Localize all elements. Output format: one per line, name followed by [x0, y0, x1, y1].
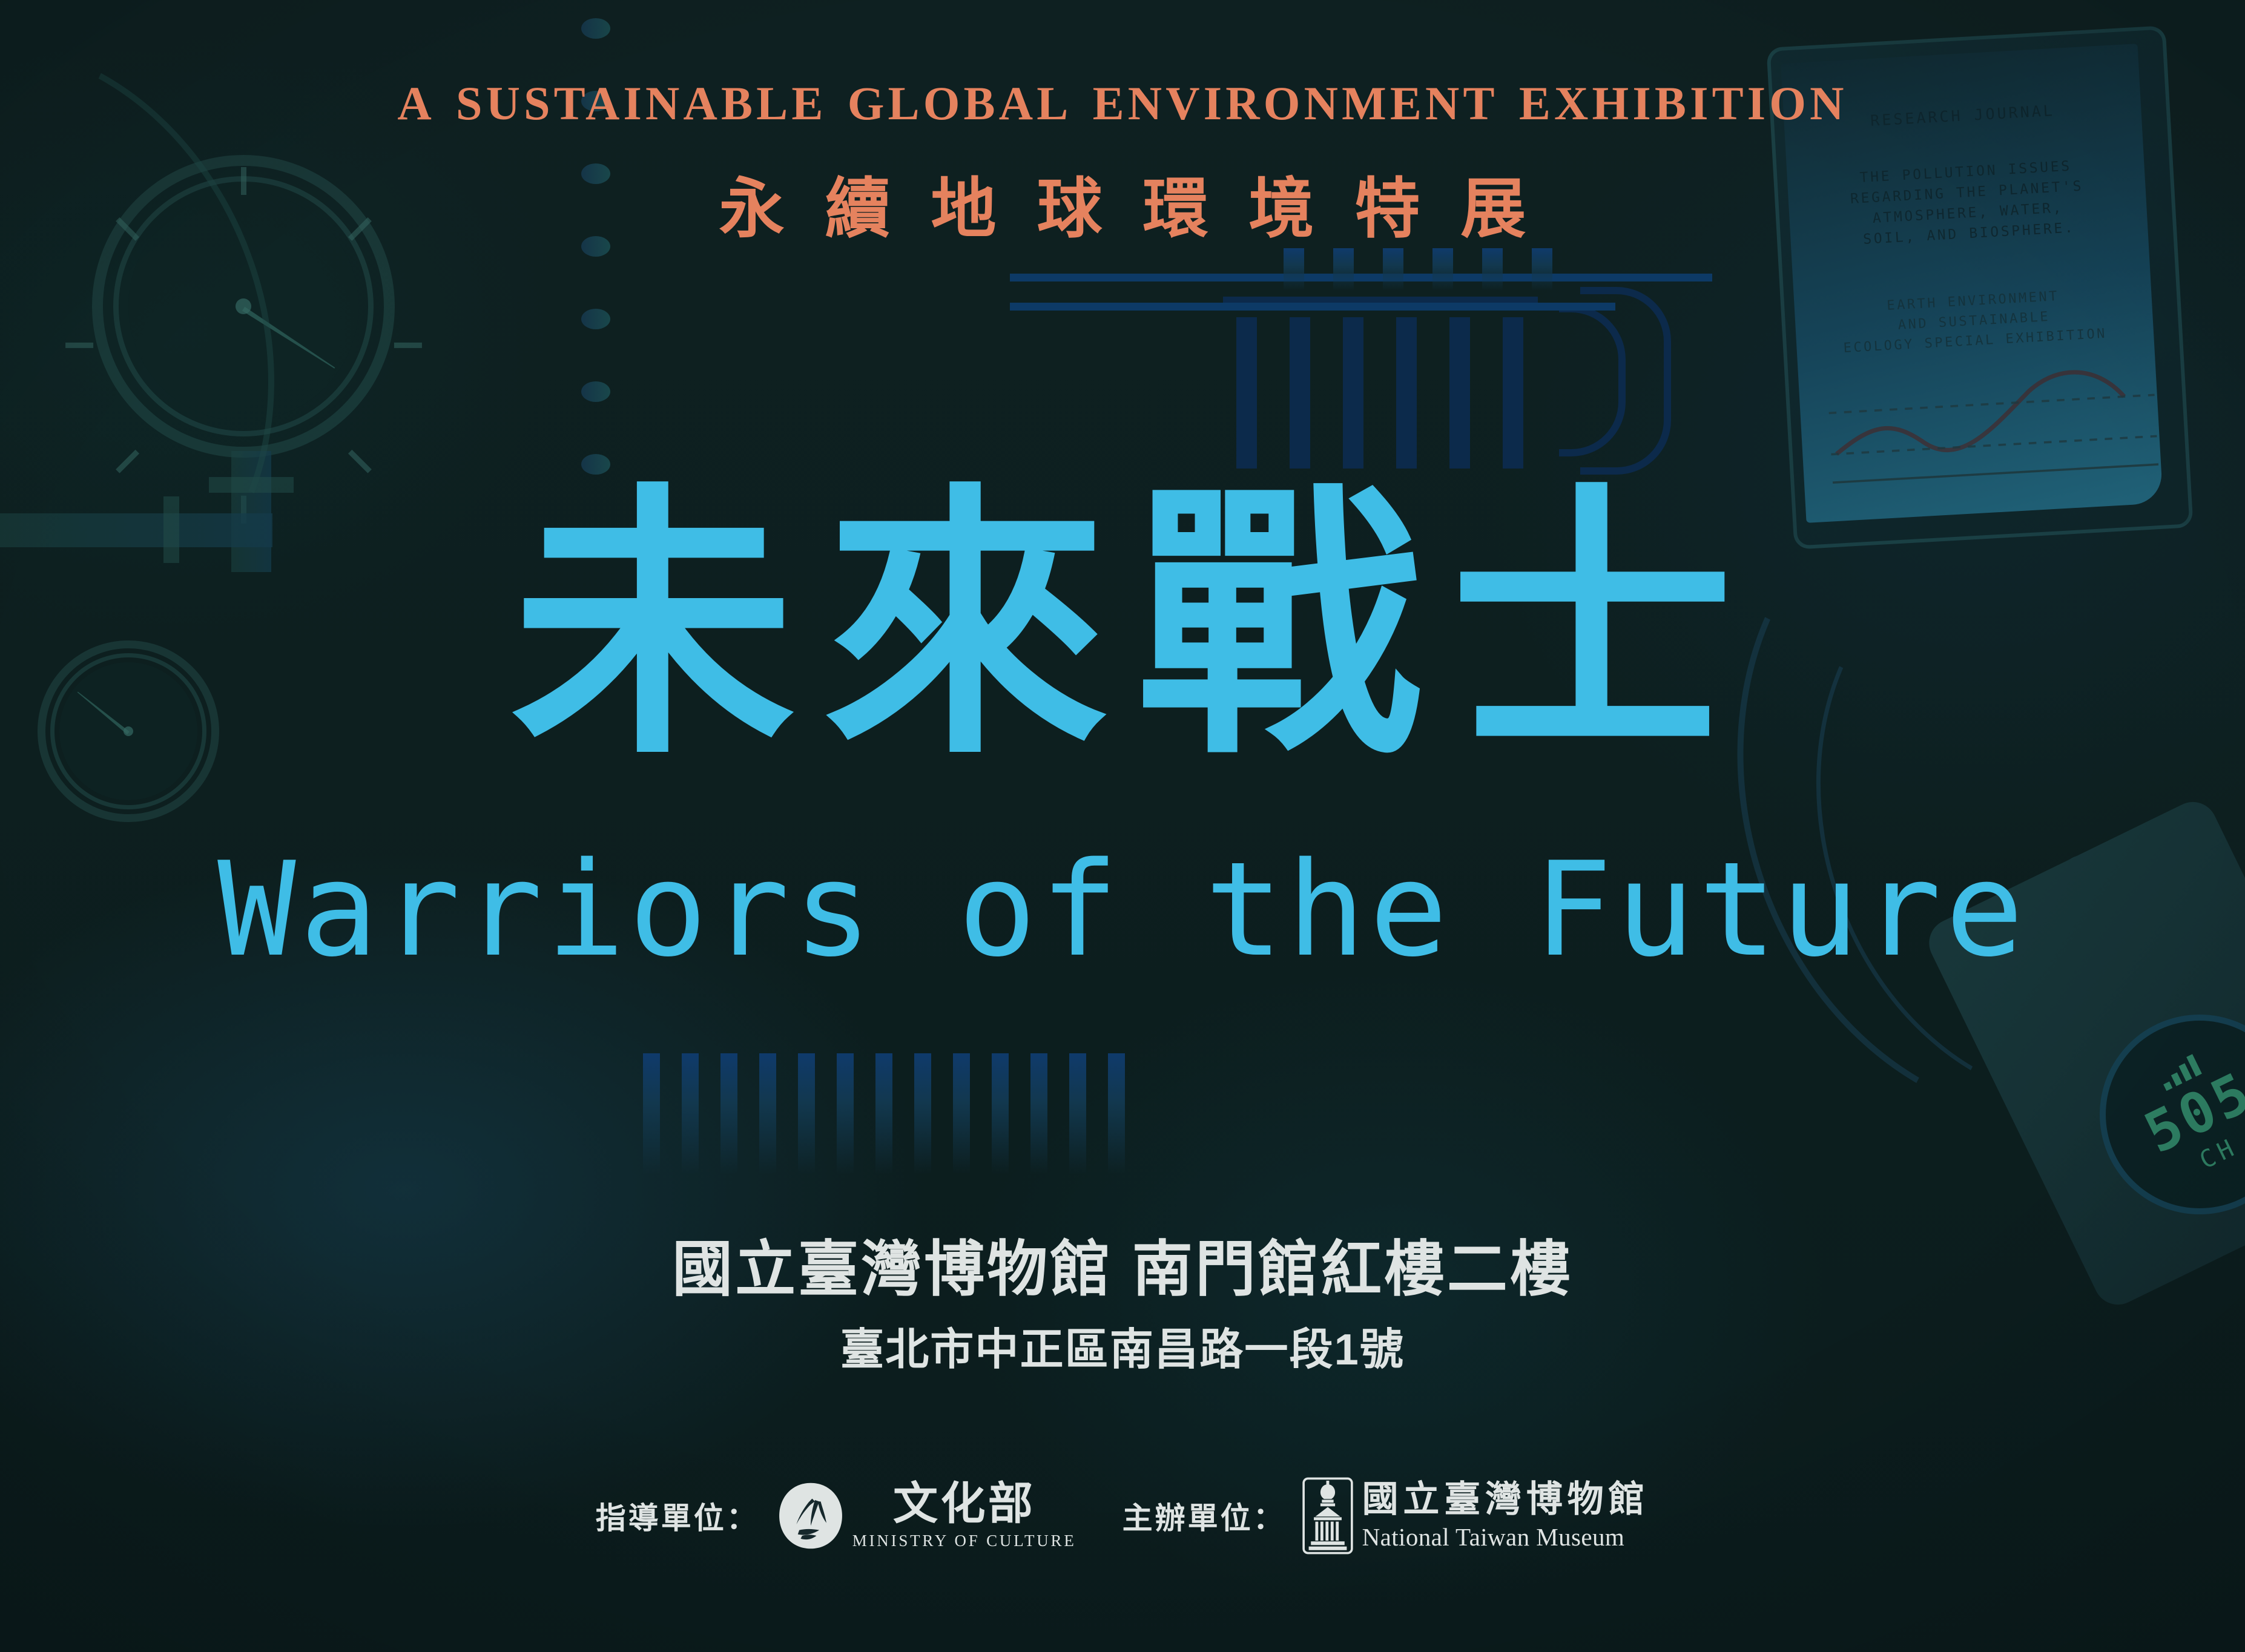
english-title: Warriors of the Future: [0, 844, 2245, 975]
ntm-wordmark: 國立臺灣博物館 National Taiwan Museum: [1362, 1481, 1650, 1552]
national-taiwan-museum-logo: 國立臺灣博物館 National Taiwan Museum: [1302, 1477, 1650, 1555]
ntm-name-en: National Taiwan Museum: [1362, 1522, 1650, 1552]
page-title: 未來戰士: [0, 484, 2245, 769]
chinese-subtitle: 永續地球環境特展: [0, 156, 2245, 251]
ministry-of-culture-logo: 文化部 MINISTRY OF CULTURE: [775, 1480, 1076, 1552]
credit-group-guidance: 指導單位： 文化部 MINISTRY OF CULTURE: [596, 1480, 1076, 1552]
credit-label-organizer: 主辦單位：: [1122, 1494, 1286, 1538]
ntm-building-icon: [1302, 1477, 1354, 1555]
moc-name-cn: 文化部: [893, 1482, 1035, 1527]
poster-content: A Sustainable Global Environment Exhibit…: [0, 0, 2245, 1652]
moc-name-en: MINISTRY OF CULTURE: [852, 1532, 1076, 1550]
credit-group-organizer: 主辦單位：: [1122, 1477, 1650, 1555]
moc-wordmark: 文化部 MINISTRY OF CULTURE: [852, 1482, 1076, 1550]
moc-emblem-icon: [775, 1480, 846, 1552]
eyebrow-heading: A Sustainable Global Environment Exhibit…: [0, 58, 2245, 136]
credit-label-guidance: 指導單位：: [596, 1494, 759, 1538]
ntm-name-cn: 國立臺灣博物館: [1362, 1481, 1650, 1519]
venue-name: 國立臺灣博物館 南門館紅樓二樓: [0, 1220, 2245, 1308]
credits-row: 指導單位： 文化部 MINISTRY OF CULTURE 主辦單位：: [0, 1477, 2245, 1555]
venue-address: 臺北市中正區南昌路一段1號: [0, 1314, 2245, 1377]
